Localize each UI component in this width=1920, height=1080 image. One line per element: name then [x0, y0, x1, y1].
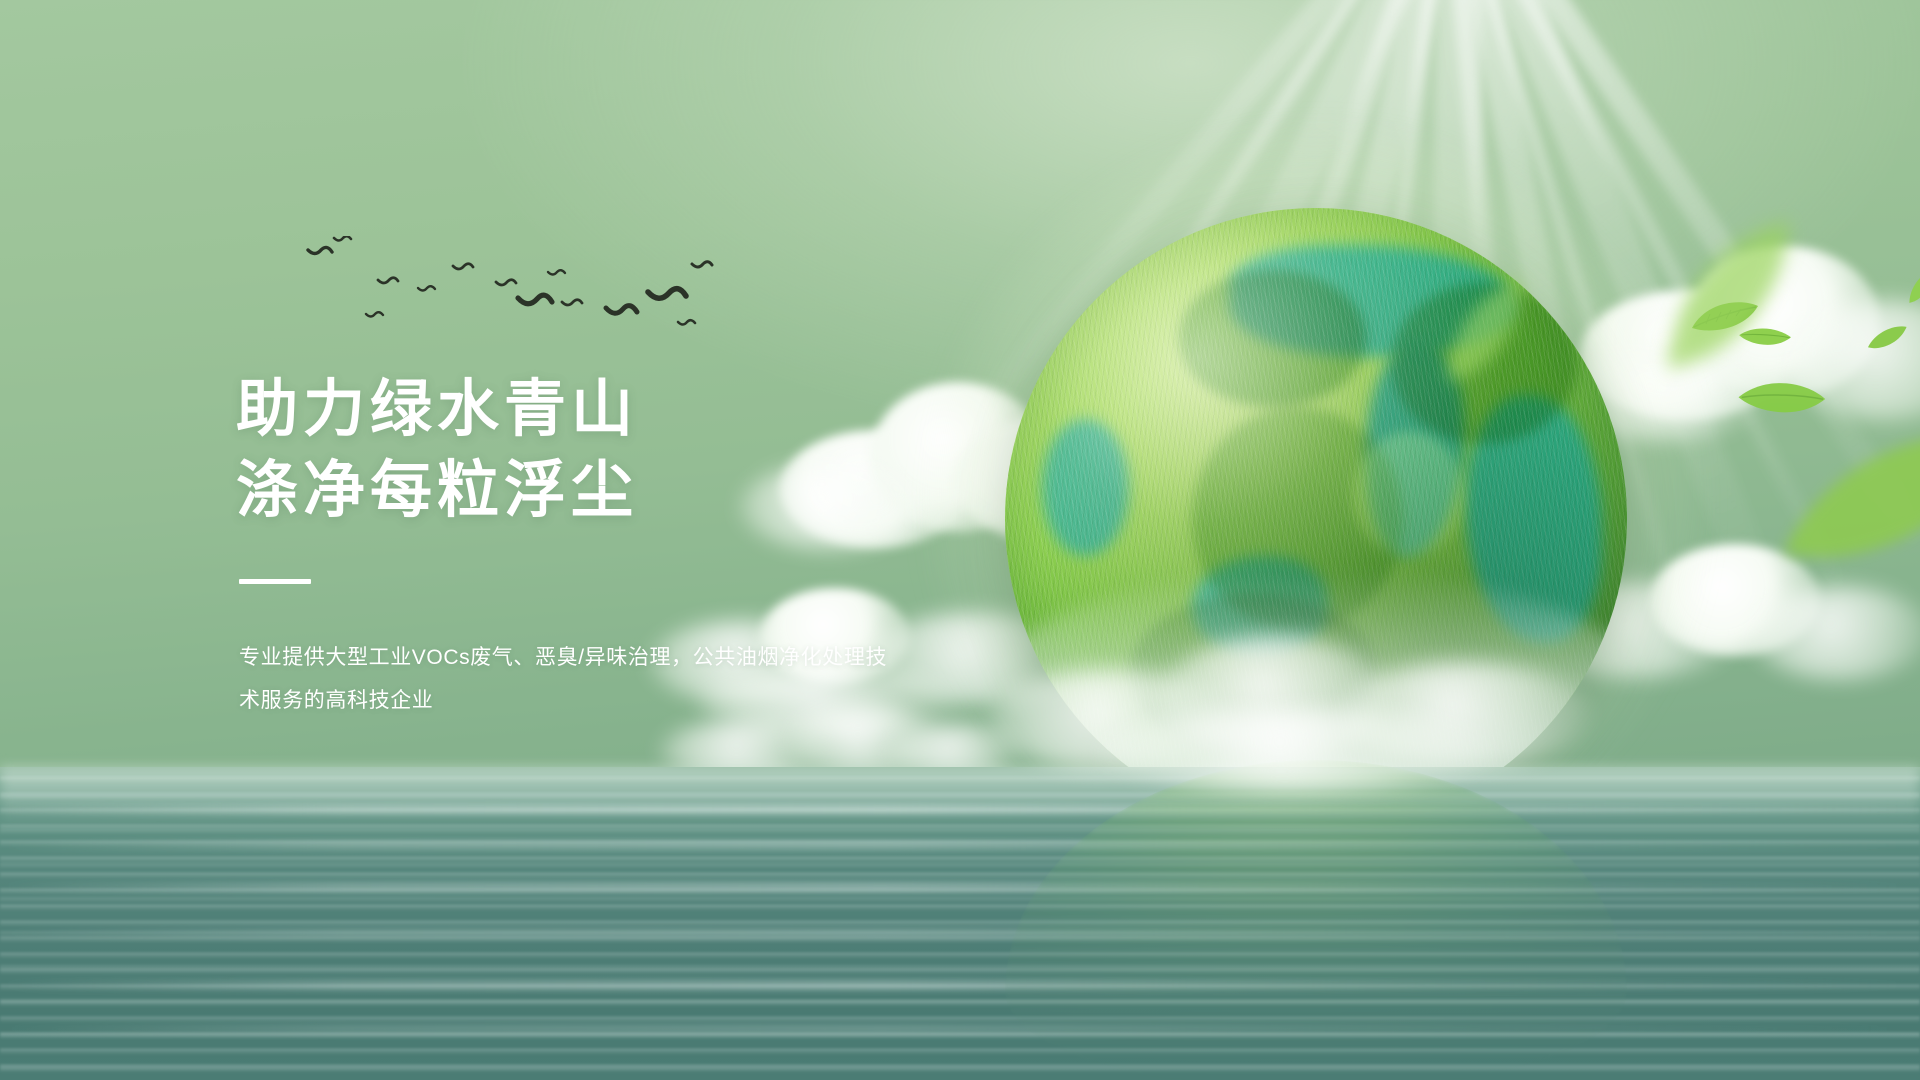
- globe-water-reflection: [1005, 760, 1627, 1080]
- water-wave: [0, 805, 1920, 813]
- water-horizon-glow: [0, 767, 1920, 827]
- water-surface: [0, 767, 1920, 1080]
- hero-banner: 助力绿水青山 涤净每粒浮尘 专业提供大型工业VOCs废气、恶臭/异味治理，公共油…: [0, 0, 1920, 1080]
- water-wave: [0, 841, 1920, 849]
- headline-line-1: 助力绿水青山: [236, 375, 638, 444]
- water-wave: [0, 981, 1920, 989]
- green-earth-globe: [1005, 208, 1627, 830]
- water-wave: [0, 1025, 1920, 1033]
- headline-line-2: 涤净每粒浮尘: [236, 451, 956, 532]
- page-title: 助力绿水青山 涤净每粒浮尘: [236, 370, 956, 531]
- hero-copy: 助力绿水青山 涤净每粒浮尘 专业提供大型工业VOCs废气、恶臭/异味治理，公共油…: [236, 370, 956, 722]
- water-wave: [0, 929, 1920, 937]
- title-divider: [239, 579, 311, 584]
- hero-description: 专业提供大型工业VOCs废气、恶臭/异味治理，公共油烟净化处理技术服务的高科技企…: [239, 636, 899, 722]
- globe-sphere: [1005, 208, 1627, 830]
- water-wave: [0, 883, 1920, 891]
